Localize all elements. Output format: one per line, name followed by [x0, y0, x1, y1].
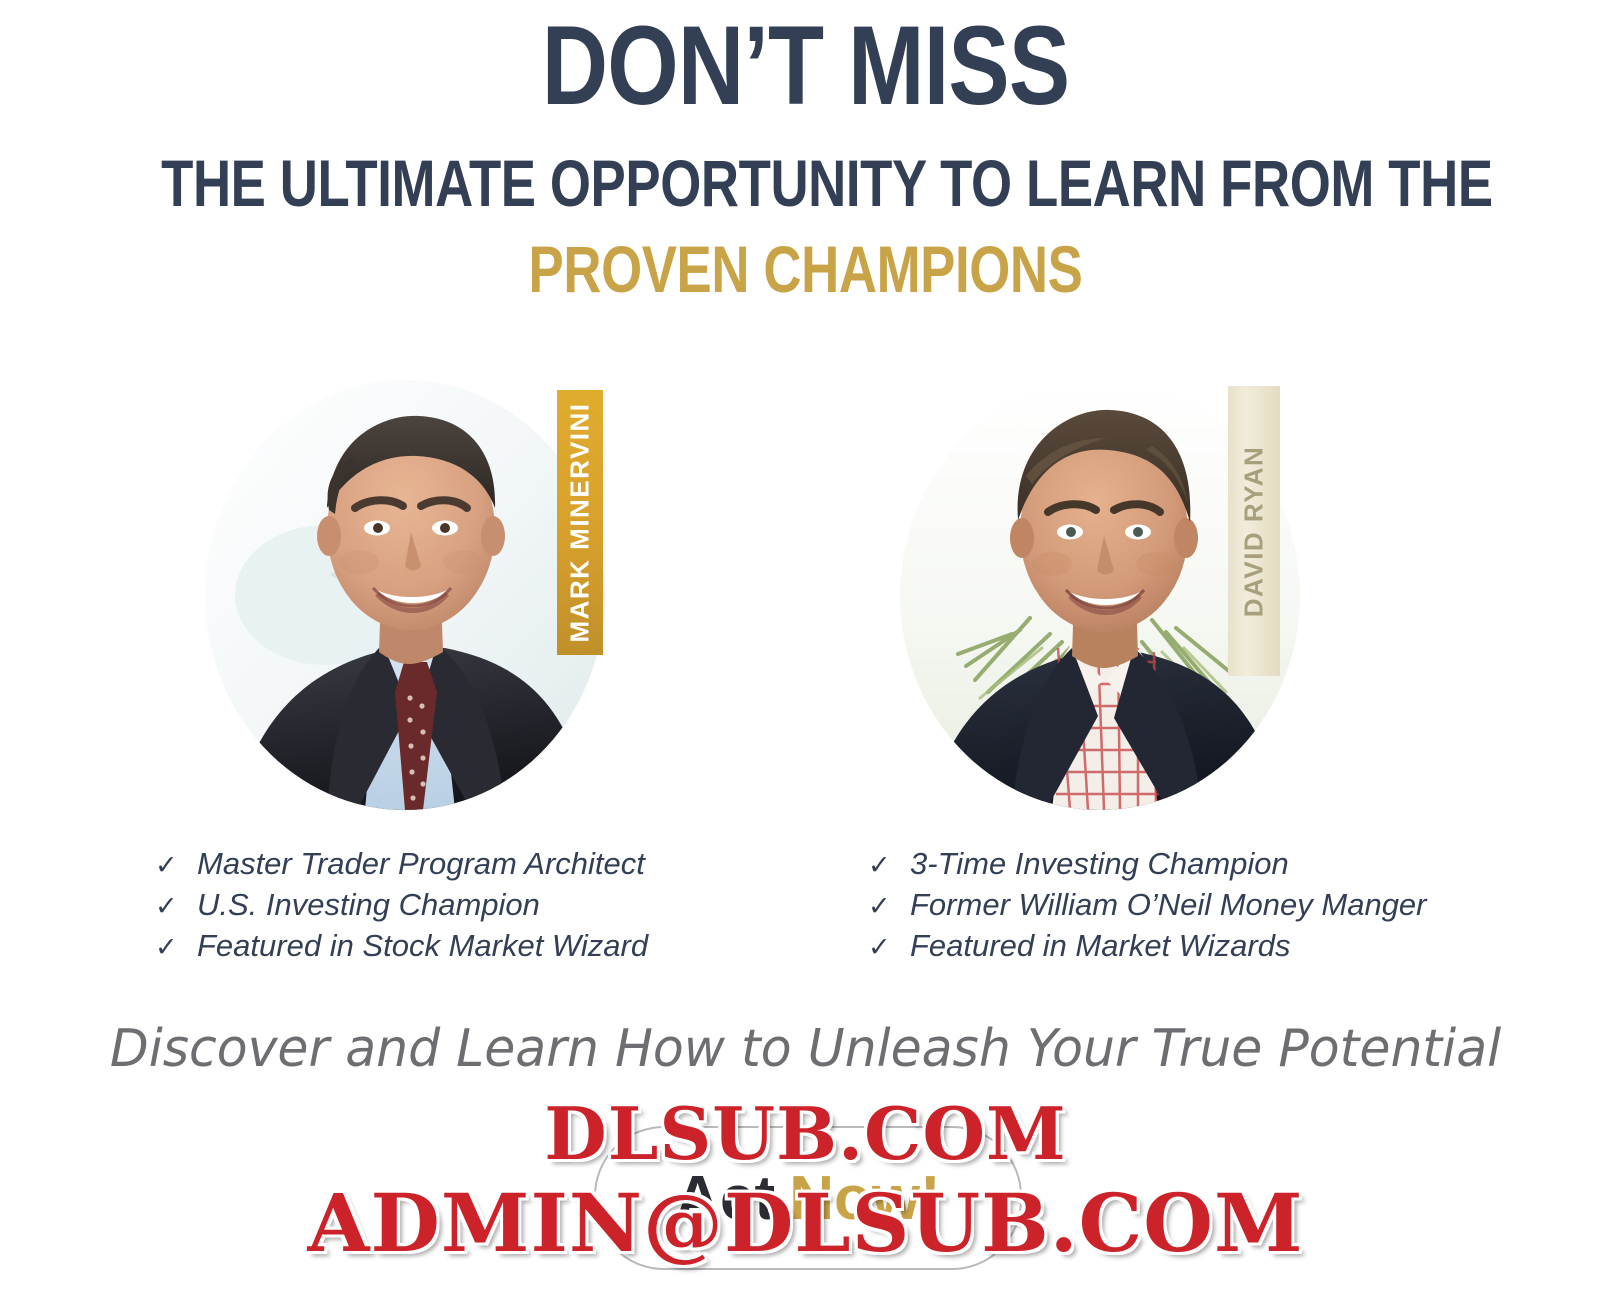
credential-item: ✓ Former William O’Neil Money Manger: [868, 884, 1427, 925]
credential-item: ✓ Featured in Stock Market Wizard: [155, 925, 648, 966]
portrait-wrap-mark-minervini: [205, 380, 605, 810]
credential-item: ✓ U.S. Investing Champion: [155, 884, 648, 925]
credential-item: ✓ Featured in Market Wizards: [868, 925, 1427, 966]
credentials-list-mark-minervini: ✓ Master Trader Program Architect ✓ U.S.…: [155, 843, 648, 966]
portrait-photo-mark-minervini: [205, 380, 605, 810]
speaker-name-label: DAVID RYAN: [1239, 445, 1270, 617]
speaker-name-banner-david-ryan: DAVID RYAN: [1228, 386, 1280, 676]
promo-page: DON’T MISS THE ULTIMATE OPPORTUNITY TO L…: [0, 0, 1611, 1291]
check-icon: ✓: [868, 886, 910, 927]
check-icon: ✓: [868, 845, 910, 886]
headline-line-1: DON’T MISS: [145, 10, 1466, 122]
credential-label: Former William O’Neil Money Manger: [910, 884, 1427, 925]
credentials-list-david-ryan: ✓ 3-Time Investing Champion ✓ Former Wil…: [868, 843, 1427, 966]
watermark-email: ADMIN@DLSUB.COM: [0, 1176, 1611, 1270]
credential-item: ✓ Master Trader Program Architect: [155, 843, 648, 884]
speaker-card-david-ryan: DAVID RYAN: [880, 372, 1350, 842]
credential-label: 3-Time Investing Champion: [910, 843, 1289, 884]
check-icon: ✓: [155, 845, 197, 886]
speakers-row: MARK MINERVINI: [0, 372, 1611, 842]
credential-label: Featured in Stock Market Wizard: [197, 925, 648, 966]
speaker-name-label: MARK MINERVINI: [565, 402, 596, 642]
speaker-card-mark-minervini: MARK MINERVINI: [185, 372, 655, 842]
credentials-row: ✓ Master Trader Program Architect ✓ U.S.…: [0, 843, 1611, 983]
credential-label: Master Trader Program Architect: [197, 843, 645, 884]
check-icon: ✓: [155, 886, 197, 927]
check-icon: ✓: [868, 927, 910, 968]
credential-item: ✓ 3-Time Investing Champion: [868, 843, 1427, 884]
watermark-site: DLSUB.COM: [0, 1091, 1611, 1176]
speaker-name-banner-mark-minervini: MARK MINERVINI: [557, 390, 603, 655]
tagline: Discover and Learn How to Unleash Your T…: [24, 1018, 1587, 1080]
credential-label: Featured in Market Wizards: [910, 925, 1290, 966]
headline-line-3: PROVEN CHAMPIONS: [161, 236, 1450, 302]
headline-line-2: THE ULTIMATE OPPORTUNITY TO LEARN FROM T…: [161, 150, 1450, 216]
headline-block: DON’T MISS THE ULTIMATE OPPORTUNITY TO L…: [0, 0, 1611, 302]
credential-label: U.S. Investing Champion: [197, 884, 540, 925]
check-icon: ✓: [155, 927, 197, 968]
